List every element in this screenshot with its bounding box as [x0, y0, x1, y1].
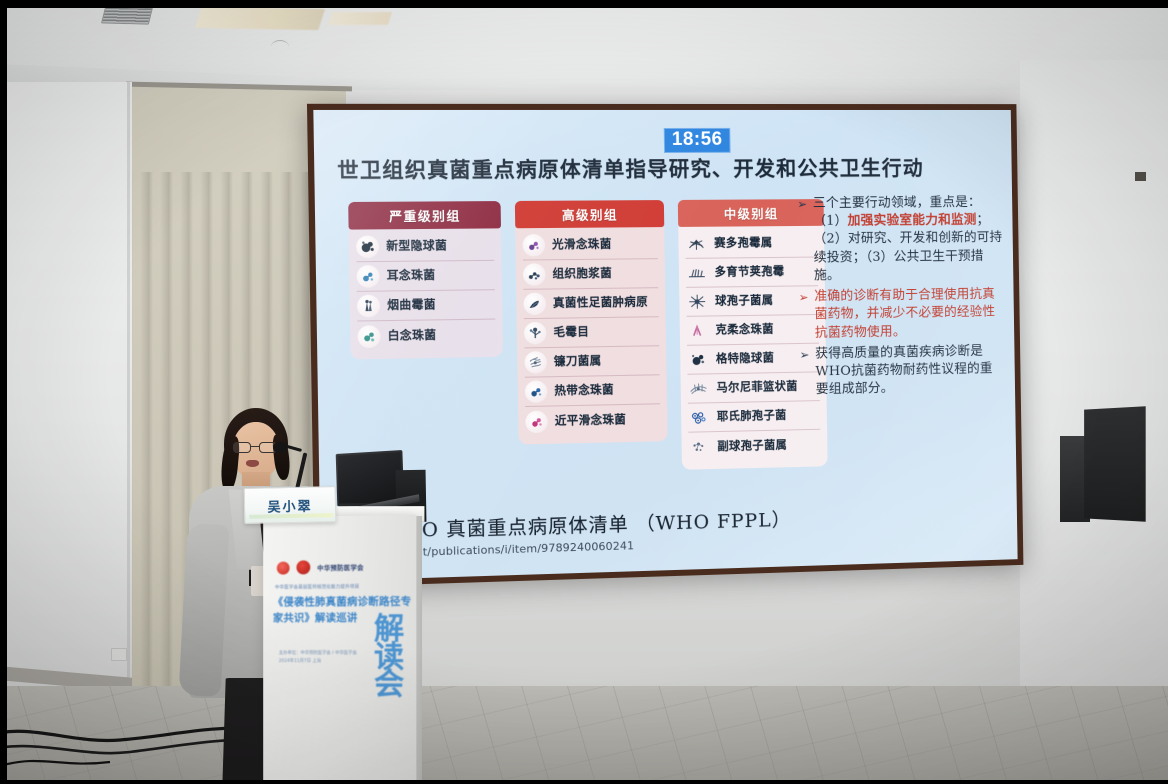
pathogen-label: 赛多孢霉属: [714, 236, 772, 250]
pathogen-label: 克柔念珠菌: [715, 323, 773, 337]
column-critical-group: 严重级别组 新型隐球菌: [348, 201, 503, 359]
event-meta: 主办单位：中华预防医学会 / 中华医学会2024年11月7日 上海: [279, 650, 357, 667]
pathogen-row: 光滑念珠菌: [522, 230, 657, 260]
pathogen-label: 耳念珠菌: [387, 269, 436, 283]
cryptococcus-icon: [687, 348, 709, 370]
pathogen-label: 多育节荚孢霉: [715, 265, 785, 279]
mouth: [246, 460, 259, 467]
name-card-accent-strip: [249, 513, 333, 519]
pathogen-label: 马尔尼菲篮状菌: [716, 380, 797, 395]
pathogen-row: 新型隐球菌: [356, 231, 494, 262]
slide-caption: WHO 真菌重点病原体清单 （WHO FPPL）: [382, 505, 791, 544]
histoplasma-icon: [523, 263, 546, 285]
pathogen-row: 烟曲霉菌: [357, 290, 495, 321]
ceiling-hook: [271, 40, 289, 47]
krusei-icon: [687, 320, 709, 342]
talaromyces-icon: [688, 377, 710, 399]
event-big-char: 解读会: [374, 616, 414, 700]
pathogen-label: 近平滑念珠菌: [555, 413, 627, 428]
column-header-critical: 严重级别组: [348, 201, 501, 230]
air-vent-icon: [101, 6, 153, 24]
yeast-cells-icon: [522, 234, 545, 256]
candida-icon: [357, 325, 380, 348]
fusarium-icon: [524, 351, 547, 374]
pathogen-label: 副球孢子菌属: [717, 438, 787, 453]
pathogen-label: 耶氏肺孢子菌: [717, 409, 787, 424]
ceiling-light-panel: [195, 7, 325, 30]
bullet-item-2: ➢ 准确的诊断有助于合理使用抗真菌药物，并减少不必要的经验性抗菌药物使用。: [799, 286, 1004, 343]
speaker-box: [1084, 406, 1146, 521]
bullet-text-2: 准确的诊断有助于合理使用抗真菌药物，并减少不必要的经验性抗菌药物使用。: [814, 286, 1004, 342]
pathogen-label: 白念珠菌: [388, 328, 437, 343]
fungus-cluster-icon: [356, 235, 379, 258]
pathogen-priority-columns: 严重级别组 新型隐球菌: [348, 199, 827, 478]
column-body-critical: 新型隐球菌 耳念珠菌: [349, 228, 503, 359]
pathogen-label: 光滑念珠菌: [552, 238, 612, 252]
left-wall: [0, 82, 132, 694]
pathogen-row: 真菌性足菌肿病原: [523, 288, 658, 319]
association-logo-icon-2: [296, 560, 310, 574]
scedosporium-icon: [685, 233, 707, 255]
pathogen-row: 组织胞浆菌: [523, 259, 658, 290]
mycetoma-icon: [523, 293, 546, 316]
bullet-item-1: ➢ 三个主要行动领域，重点是：（1）加强实验室能力和监测；（2）对研究、开发和创…: [797, 194, 1003, 286]
bullet-text-3: 获得高质量的真菌疾病诊断是WHO抗菌药物耐药性议程的重要组成部分。: [815, 342, 1005, 399]
microphone-icon: [273, 442, 287, 453]
pathogen-label: 毛霉目: [553, 325, 589, 339]
pathogen-label: 格特隐球菌: [716, 352, 774, 366]
bullet-arrow-icon: ➢: [799, 346, 812, 400]
podium: 中华预防医学会 中华医学会基层医师规范化能力提升项目 《侵袭性肺真菌病诊断路径专…: [263, 515, 416, 784]
bullet-arrow-icon: ➢: [799, 288, 812, 342]
letterbox-left: [0, 0, 7, 784]
pathogen-row: 热带念珠菌: [525, 375, 660, 407]
bullet-arrow-icon: ➢: [797, 195, 810, 285]
wall-plate: [1135, 172, 1146, 181]
pathogen-row: 镰刀菌属: [524, 346, 659, 377]
pathogen-label: 球孢子菌属: [715, 294, 773, 308]
arm-left: [179, 523, 230, 697]
hair-right-strand: [272, 433, 292, 480]
column-header-high: 高级别组: [515, 200, 664, 228]
bullet-text-1: 三个主要行动领域，重点是：（1）加强实验室能力和监测；（2）对研究、开发和创新的…: [813, 194, 1003, 285]
podium-banner: 中华预防医学会 中华医学会基层医师规范化能力提升项目 《侵袭性肺真菌病诊断路径专…: [265, 553, 414, 692]
paracoccidioides-icon: [688, 436, 710, 458]
pathogen-label: 组织胞浆菌: [552, 267, 612, 281]
pathogen-row: 白念珠菌: [357, 320, 495, 352]
association-logo-icon-1: [277, 561, 290, 574]
coccidioides-icon: [686, 291, 708, 313]
podium-logos: 中华预防医学会: [277, 560, 364, 575]
presentation-timer: 18:56: [664, 128, 731, 153]
pathogen-label: 镰刀菌属: [554, 354, 602, 368]
slide-title: 世卫组织真菌重点病原体清单指导研究、开发和公共卫生行动: [337, 151, 995, 184]
pathogen-row: 毛霉目: [524, 317, 659, 348]
organization-name: 中华预防医学会: [317, 562, 364, 572]
event-subtitle: 中华医学会基层医师规范化能力提升项目: [275, 584, 359, 591]
candida-icon: [525, 410, 548, 433]
aspergillus-icon: [357, 295, 380, 318]
wall-corner: [127, 82, 130, 694]
wall-outlet: [111, 648, 127, 661]
pneumocystis-icon: [688, 406, 710, 428]
letterbox-top: [0, 0, 1168, 8]
column-high-group: 高级别组 光滑念珠菌: [515, 200, 668, 444]
pathogen-label: 新型隐球菌: [386, 239, 447, 253]
presenter-name-card: 吴小翠: [244, 486, 337, 524]
presenter-name: 吴小翠: [267, 495, 312, 515]
screenshot-root: 18:56 世卫组织真菌重点病原体清单指导研究、开发和公共卫生行动 严重级别组 …: [0, 0, 1168, 784]
mucorales-icon: [524, 322, 547, 345]
bullet-item-3: ➢ 获得高质量的真菌疾病诊断是WHO抗菌药物耐药性议程的重要组成部分。: [799, 342, 1004, 400]
letterbox-bottom: [0, 780, 1168, 784]
pathogen-row: 近平滑念珠菌: [525, 404, 660, 436]
column-body-high: 光滑念珠菌 组织胞浆菌: [515, 227, 667, 444]
pathogen-label: 真菌性足菌肿病原: [553, 296, 648, 311]
yeast-cells-icon: [525, 380, 548, 403]
pathogen-row: 副球孢子菌属: [688, 430, 820, 462]
pathogen-label: 烟曲霉菌: [387, 298, 436, 312]
ceiling-light-panel-2: [328, 12, 392, 25]
lomentospora-icon: [686, 262, 708, 284]
pathogen-row: 耳念珠菌: [356, 261, 494, 292]
slide-bullet-list: ➢ 三个主要行动领域，重点是：（1）加强实验室能力和监测；（2）对研究、开发和创…: [797, 194, 1005, 403]
pathogen-label: 热带念珠菌: [554, 383, 614, 398]
yeast-cells-icon: [356, 265, 379, 288]
pathogen-row: 耶氏肺孢子菌: [688, 401, 820, 433]
